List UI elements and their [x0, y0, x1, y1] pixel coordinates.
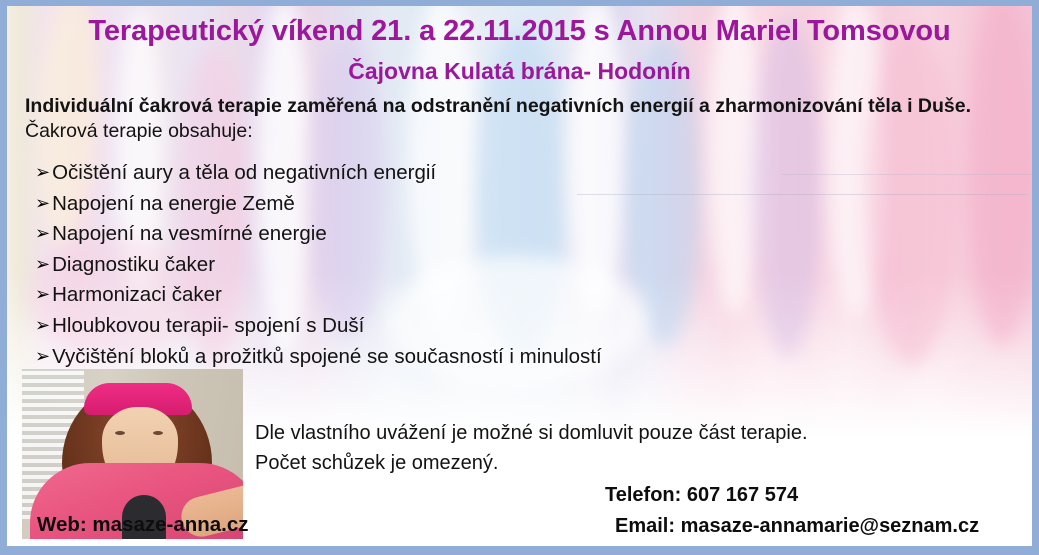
- list-item: ➢ Harmonizaci čaker: [35, 280, 935, 311]
- service-list: ➢ Očištění aury a těla od negativních en…: [35, 158, 935, 372]
- poster: Terapeutický víkend 21. a 22.11.2015 s A…: [0, 0, 1039, 555]
- intro-regular-text: Čakrová terapie obsahuje:: [25, 120, 253, 142]
- list-item: ➢ Napojení na energie Země: [35, 189, 935, 220]
- arrow-bullet-icon: ➢: [35, 224, 50, 242]
- availability-note-line2: Počet schůzek je omezený.: [255, 448, 808, 478]
- arrow-bullet-icon: ➢: [35, 285, 50, 303]
- photo-eye-left: [115, 431, 125, 435]
- list-item-label: Napojení na vesmírné energie: [52, 219, 327, 250]
- intro-paragraph: Individuální čakrová terapie zaměřená na…: [25, 94, 1032, 144]
- contact-email: Email: masaze-annamarie@seznam.cz: [615, 515, 979, 538]
- list-item-label: Diagnostiku čaker: [52, 250, 215, 281]
- list-item-label: Vyčištění bloků a prožitků spojené se so…: [52, 342, 602, 373]
- list-item: ➢ Hloubkovou terapii- spojení s Duší: [35, 311, 935, 342]
- intro-bold-text: Individuální čakrová terapie zaměřená na…: [25, 95, 971, 117]
- arrow-bullet-icon: ➢: [35, 347, 50, 365]
- availability-note: Dle vlastního uvážení je možné si domluv…: [255, 418, 808, 478]
- contact-phone: Telefon: 607 167 574: [605, 484, 798, 507]
- page-subtitle: Čajovna Kulatá brána- Hodonín: [7, 58, 1032, 85]
- poster-inner: Terapeutický víkend 21. a 22.11.2015 s A…: [7, 6, 1032, 546]
- availability-note-line1: Dle vlastního uvážení je možné si domluv…: [255, 418, 808, 448]
- list-item-label: Harmonizaci čaker: [52, 280, 222, 311]
- list-item: ➢ Napojení na vesmírné energie: [35, 219, 935, 250]
- list-item: ➢ Očištění aury a těla od negativních en…: [35, 158, 935, 189]
- list-item-label: Očištění aury a těla od negativních ener…: [52, 158, 436, 189]
- list-item-label: Hloubkovou terapii- spojení s Duší: [52, 311, 364, 342]
- photo-eye-right: [153, 431, 163, 435]
- list-item-label: Napojení na energie Země: [52, 189, 295, 220]
- list-item: ➢ Diagnostiku čaker: [35, 250, 935, 281]
- arrow-bullet-icon: ➢: [35, 316, 50, 334]
- contact-web: Web: masaze-anna.cz: [37, 513, 249, 537]
- list-item: ➢ Vyčištění bloků a prožitků spojené se …: [35, 342, 935, 373]
- arrow-bullet-icon: ➢: [35, 194, 50, 212]
- arrow-bullet-icon: ➢: [35, 163, 50, 181]
- poster-content: Terapeutický víkend 21. a 22.11.2015 s A…: [7, 6, 1032, 546]
- arrow-bullet-icon: ➢: [35, 255, 50, 273]
- page-title: Terapeutický víkend 21. a 22.11.2015 s A…: [7, 15, 1032, 48]
